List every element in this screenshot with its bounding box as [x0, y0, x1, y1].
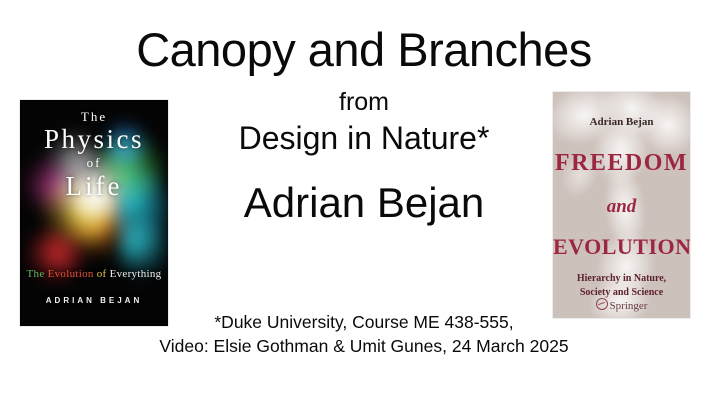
- subtitle-line-1: Hierarchy in Nature,: [553, 272, 690, 286]
- freedom-evolution-author: Adrian Bejan: [553, 116, 690, 128]
- subtitle-word-everything: Everything: [110, 268, 162, 280]
- springer-publisher-logo: Springer: [553, 298, 690, 312]
- freedom-evolution-subtitle: Hierarchy in Nature, Society and Science: [553, 272, 690, 299]
- subtitle-word-the: The: [27, 268, 45, 280]
- subtitle-word-evolution: Evolution: [48, 268, 94, 280]
- physics-of-life-author: ADRIAN BEJAN: [20, 296, 168, 305]
- footnote-line-2: Video: Elsie Gothman & Umit Gunes, 24 Ma…: [0, 334, 728, 358]
- page-title: Canopy and Branches: [0, 26, 728, 73]
- physics-of-life-title: The Physics of Life: [20, 110, 168, 202]
- freedom-evolution-title-freedom: FREEDOM: [553, 150, 690, 177]
- subtitle-line-2: Society and Science: [553, 286, 690, 300]
- subtitle-word-of: of: [97, 268, 107, 280]
- slide-canvas: The Physics of Life The Evolution of Eve…: [0, 0, 728, 410]
- springer-horse-icon: [596, 298, 608, 310]
- freedom-evolution-title-evolution: EVOLUTION: [553, 234, 690, 260]
- book-cover-freedom-and-evolution[interactable]: Adrian Bejan FREEDOM and EVOLUTION Hiera…: [553, 92, 690, 318]
- title-word-the: The: [20, 110, 168, 124]
- title-word-physics: Physics: [20, 125, 168, 155]
- freedom-evolution-title-and: and: [553, 196, 690, 218]
- physics-of-life-subtitle: The Evolution of Everything: [20, 268, 168, 280]
- title-word-of: of: [20, 155, 168, 171]
- springer-label: Springer: [610, 300, 648, 312]
- title-word-life: Life: [20, 171, 168, 202]
